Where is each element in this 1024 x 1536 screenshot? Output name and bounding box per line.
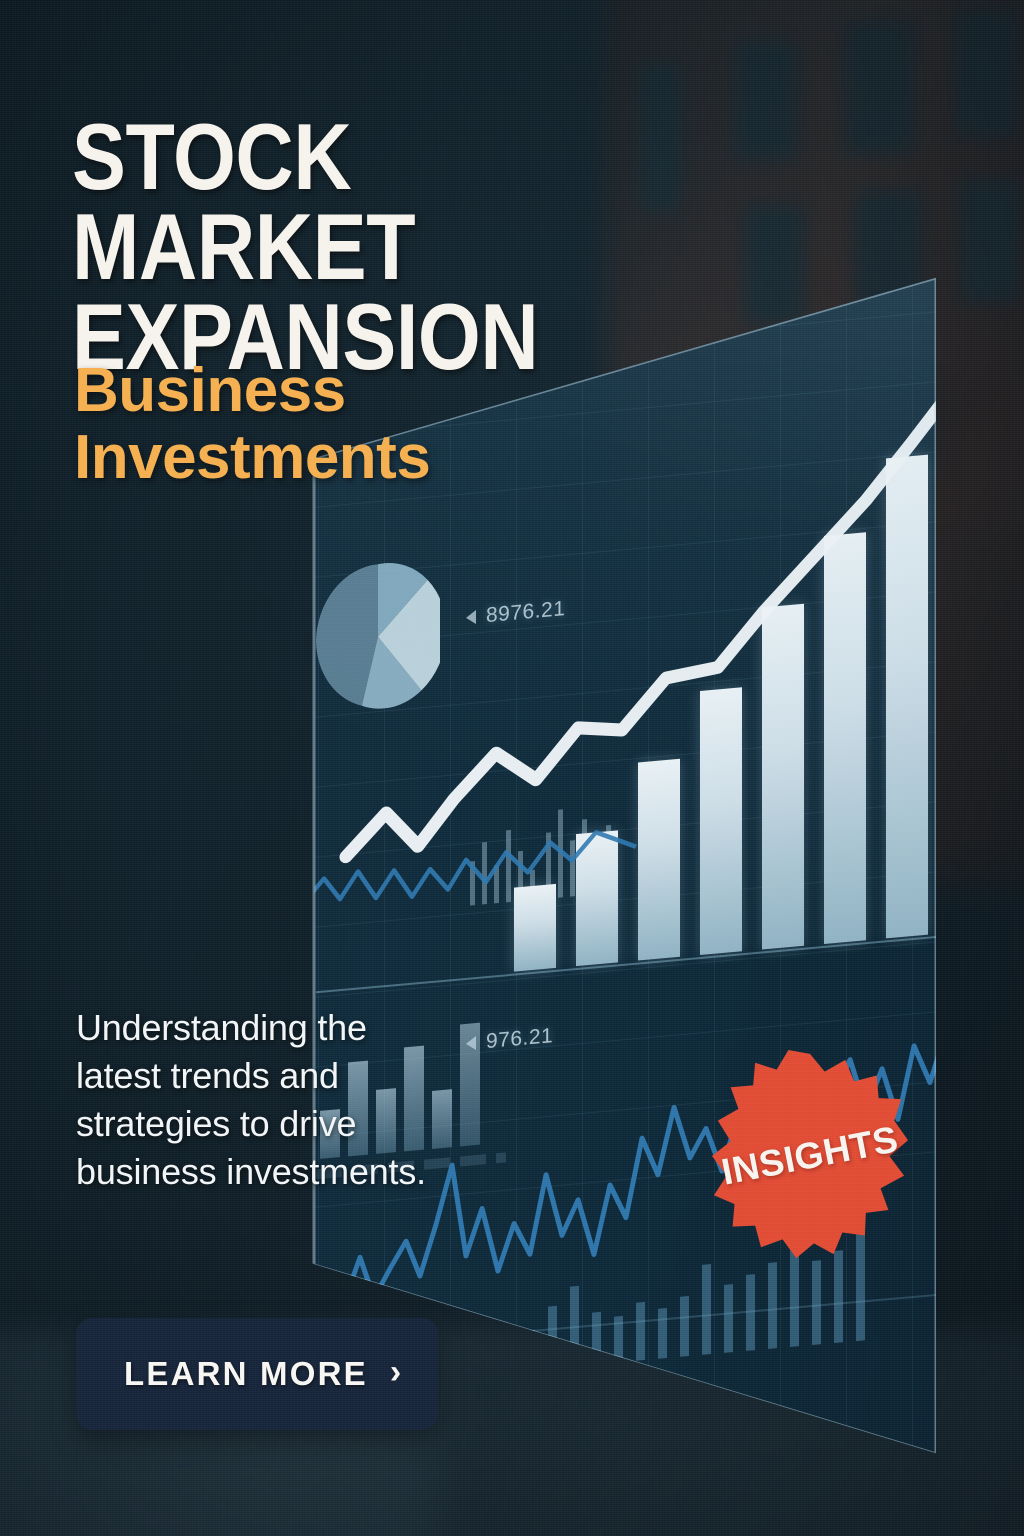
subhead-line-2: Investments [74, 425, 694, 492]
learn-more-label: LEARN MORE [124, 1355, 368, 1393]
subhead-line-1: Business [74, 358, 694, 425]
insights-badge-text-wrap: INSIGHTS [694, 1033, 927, 1279]
insights-badge-label: INSIGHTS [718, 1118, 901, 1193]
body-copy: Understanding the latest trends and stra… [76, 1004, 426, 1196]
page-title: STOCK MARKET EXPANSION [72, 112, 674, 383]
learn-more-button[interactable]: LEARN MORE › [76, 1318, 438, 1430]
headline-line-1: STOCK MARKET [72, 112, 674, 292]
poster-canvas: 8976.21 [0, 0, 1024, 1536]
page-subtitle: Business Investments [74, 358, 694, 492]
chevron-right-icon: › [390, 1355, 401, 1389]
insights-badge[interactable]: INSIGHTS [712, 1050, 908, 1262]
